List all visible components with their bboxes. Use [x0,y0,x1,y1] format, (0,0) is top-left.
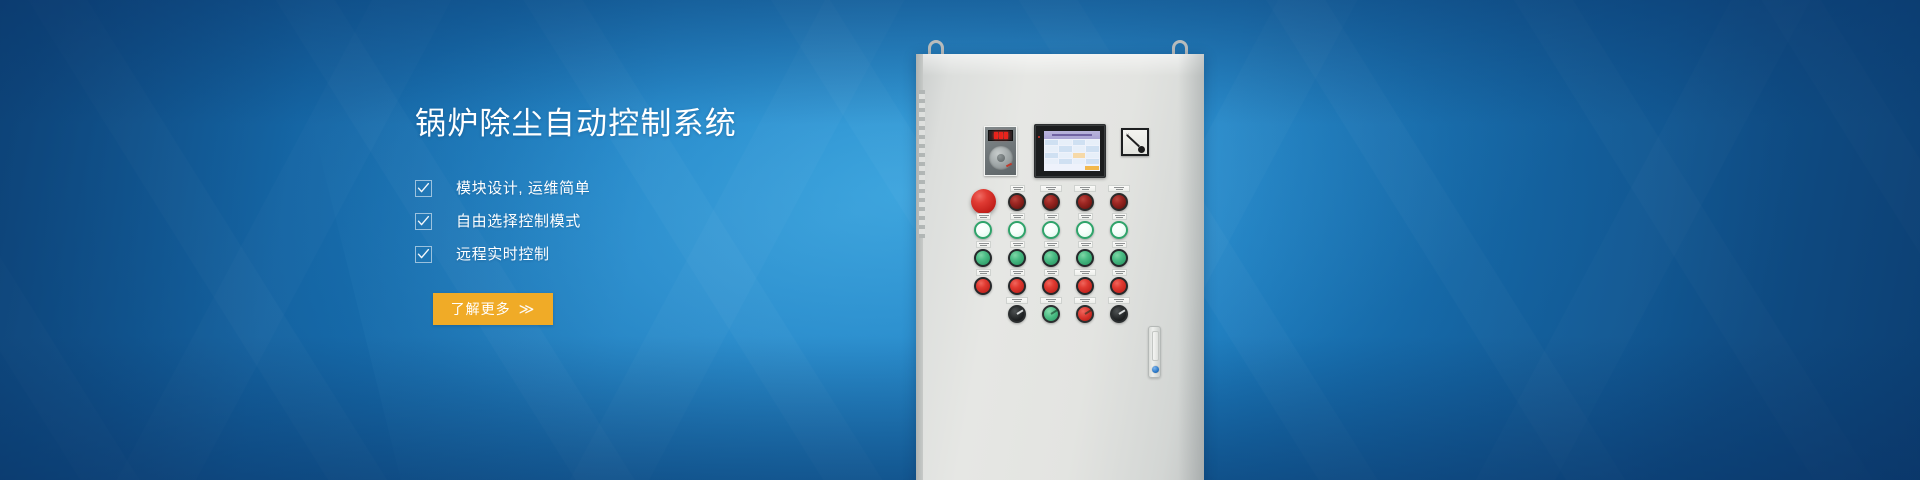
push-button-red[interactable] [1076,277,1094,295]
table-cell [1045,146,1058,151]
button-label-plate [1010,241,1025,248]
table-cell [1045,159,1058,164]
analog-meter-face: V [1123,130,1147,154]
vfd-keypad[interactable] [984,126,1017,176]
button-label-plate [976,241,991,248]
push-button-green[interactable] [974,249,992,267]
push-button-green[interactable] [1042,249,1060,267]
button-label-plate [1074,185,1096,192]
table-row [1045,140,1099,145]
control-button-grid [971,186,1161,326]
cabinet-right-shading [1178,54,1204,480]
button-label-plate [976,269,991,276]
list-item-label: 自由选择控制模式 [456,213,581,230]
button-label-plate [1044,213,1059,220]
indicator-lamp-white[interactable] [1042,221,1060,239]
indicator-lamp-white[interactable] [1110,221,1128,239]
table-cell [1059,159,1072,164]
button-label-plate [1040,297,1062,304]
handle-grip[interactable] [1152,331,1159,361]
table-cell [1086,140,1099,145]
push-button-green[interactable] [1076,249,1094,267]
list-item: 模块设计, 运维简单 [415,172,885,205]
table-cell [1045,140,1058,145]
chevron-right-icon: ≫ [519,302,536,317]
knob-slot-icon [1084,308,1093,314]
button-label-plate [1078,241,1093,248]
push-button-red[interactable] [1110,277,1128,295]
button-label-plate [1112,241,1127,248]
table-cell [1059,140,1072,145]
selector-knob-green[interactable] [1042,305,1060,323]
table-cell [1073,159,1086,164]
button-label-plate [1006,297,1028,304]
button-label-plate [1044,241,1059,248]
emergency-stop-button[interactable] [971,189,996,214]
knob-slot-icon [1118,308,1127,314]
indicator-lamp-white[interactable] [974,221,992,239]
button-label-plate [1108,297,1130,304]
vfd-rotary-dial[interactable] [989,146,1013,170]
hmi-screen[interactable] [1044,131,1100,171]
button-label-plate [1078,213,1093,220]
hmi-action-button[interactable] [1085,166,1099,170]
cabinet-door-handle[interactable] [1148,326,1161,378]
analog-meter-hub-icon [1138,146,1145,153]
cabinet-body: V [916,54,1204,480]
selector-knob-red[interactable] [1076,305,1094,323]
table-row [1045,159,1099,164]
learn-more-label: 了解更多 [451,299,511,319]
indicator-lamp-red[interactable] [1042,193,1060,211]
table-cell [1045,153,1058,158]
table-cell [1086,146,1099,151]
hero-banner: 锅炉除尘自动控制系统 模块设计, 运维简单 自由选择控制模式 [0,0,1920,480]
lock-icon[interactable] [1152,366,1159,373]
indicator-lamp-red[interactable] [1076,193,1094,211]
page-title: 锅炉除尘自动控制系统 [415,104,885,144]
push-button-green[interactable] [1008,249,1026,267]
selector-knob-black[interactable] [1008,305,1026,323]
list-item: 远程实时控制 [415,238,885,271]
selector-knob-black[interactable] [1110,305,1128,323]
button-row-red-buttons [971,270,1161,298]
vfd-digital-display [988,130,1013,141]
button-label-plate [1044,269,1059,276]
indicator-lamp-white[interactable] [1008,221,1026,239]
button-label-plate [1040,185,1062,192]
button-label-plate [1010,269,1025,276]
indicator-lamp-red[interactable] [1008,193,1026,211]
hmi-power-led-icon [1038,136,1040,138]
push-button-red[interactable] [1042,277,1060,295]
table-cell [1073,146,1086,151]
list-item: 自由选择控制模式 [415,205,885,238]
table-row [1045,153,1099,158]
hmi-screen-title-bar [1044,131,1100,139]
button-label-plate [1112,269,1127,276]
feature-list: 模块设计, 运维简单 自由选择控制模式 远程实时控制 [415,172,885,271]
button-label-plate [1010,213,1025,220]
button-label-plate [1112,213,1127,220]
hmi-footer [1044,165,1100,171]
table-cell [1086,159,1099,164]
vfd-dial-marker-icon [1005,163,1011,168]
knob-slot-icon [1050,308,1059,314]
table-cell [1073,140,1086,145]
button-row-estop-indicators [971,186,1161,214]
button-row-white-lamps [971,214,1161,242]
checkbox-checked-icon [415,246,432,263]
indicator-lamp-white[interactable] [1076,221,1094,239]
checkbox-checked-icon [415,213,432,230]
hmi-touch-panel[interactable] [1034,124,1106,178]
push-button-red[interactable] [974,277,992,295]
knob-slot-icon [1016,308,1025,314]
table-cell [1086,153,1099,158]
push-button-red[interactable] [1008,277,1026,295]
push-button-green[interactable] [1110,249,1128,267]
cabinet-hinge-strip [919,90,925,238]
button-label-plate [1074,269,1096,276]
list-item-label: 模块设计, 运维简单 [456,180,590,197]
hmi-data-table [1044,139,1100,165]
analog-meter-needle-icon [1126,134,1139,147]
table-row [1045,146,1099,151]
table-cell [1073,153,1086,158]
hero-content: 锅炉除尘自动控制系统 模块设计, 运维简单 自由选择控制模式 [415,104,885,325]
button-label-plate [1074,297,1096,304]
table-cell [1059,153,1072,158]
button-label-plate [976,213,991,220]
analog-meter: V [1121,128,1149,156]
learn-more-button[interactable]: 了解更多 ≫ [433,293,553,325]
button-label-plate [1108,185,1130,192]
button-row-selector-knobs [971,298,1161,326]
button-row-green-buttons [971,242,1161,270]
button-label-plate [1010,185,1025,192]
checkbox-checked-icon [415,180,432,197]
cabinet-top-highlight [916,54,1204,76]
list-item-label: 远程实时控制 [456,246,550,263]
indicator-lamp-red[interactable] [1110,193,1128,211]
table-cell [1059,146,1072,151]
control-cabinet-image: V [910,40,1210,480]
